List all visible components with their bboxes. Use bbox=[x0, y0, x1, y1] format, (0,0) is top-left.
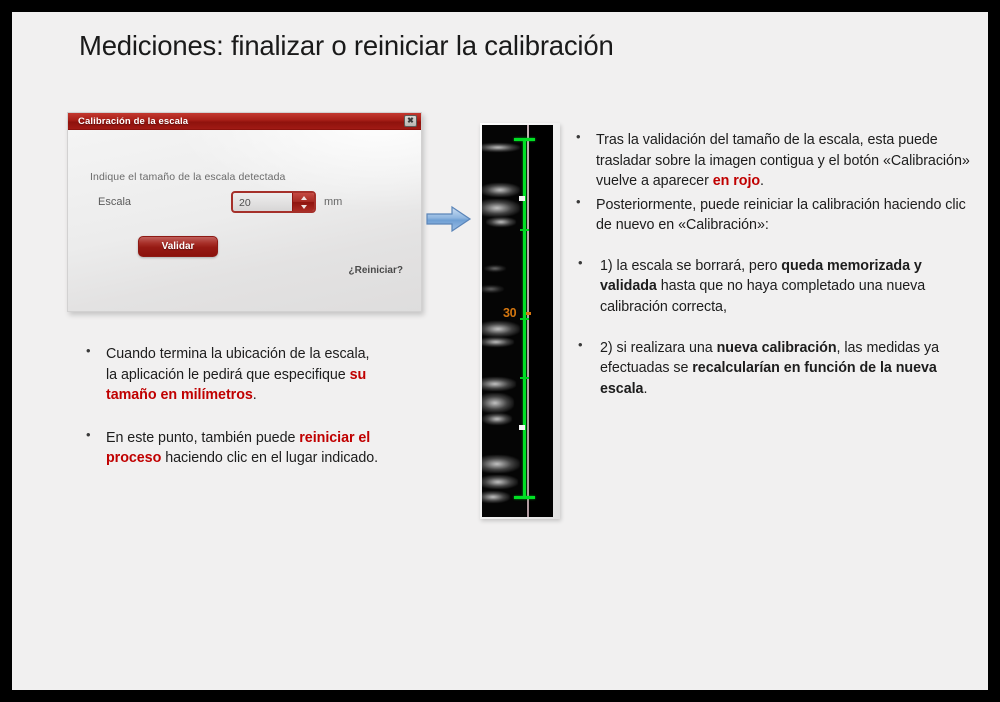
text-run: nueva calibración bbox=[717, 340, 837, 356]
close-icon[interactable]: ✖ bbox=[404, 115, 417, 127]
list-item-text: Tras la validación del tamaño de la esca… bbox=[596, 130, 982, 192]
tissue-speckle bbox=[482, 455, 520, 473]
tissue-speckle bbox=[482, 413, 512, 425]
dialog-background-gloss bbox=[68, 129, 421, 312]
measurement-tick bbox=[520, 318, 529, 320]
measurement-tick bbox=[520, 229, 529, 231]
scale-value-stepper[interactable]: 20 bbox=[231, 191, 316, 213]
list-item-text: En este punto, también puede reiniciar e… bbox=[106, 428, 382, 469]
tissue-speckle bbox=[482, 393, 514, 413]
list-item-text: Cuando termina la ubicación de la escala… bbox=[106, 344, 382, 406]
ultrasound-image[interactable]: 30 bbox=[482, 125, 553, 517]
text-run: en rojo bbox=[713, 173, 760, 189]
text-run: Tras la validación del tamaño de la esca… bbox=[596, 132, 970, 189]
calibration-dialog: Calibración de la escala ✖ Indique el ta… bbox=[67, 112, 422, 312]
right-bullet-list: Tras la validación del tamaño de la esca… bbox=[572, 130, 982, 402]
dialog-titlebar: Calibración de la escala ✖ bbox=[68, 113, 421, 130]
list-item: Tras la validación del tamaño de la esca… bbox=[572, 130, 982, 192]
unit-label: mm bbox=[324, 196, 342, 208]
measurement-handle[interactable] bbox=[519, 425, 525, 430]
measurement-tick bbox=[520, 377, 529, 379]
text-run: 1) la escala se borrará, pero bbox=[600, 258, 781, 274]
validate-button[interactable]: Validar bbox=[138, 236, 218, 257]
text-run: En este punto, también puede bbox=[106, 430, 299, 446]
page-title: Mediciones: finalizar o reiniciar la cal… bbox=[79, 30, 614, 62]
chevron-up-icon[interactable] bbox=[301, 196, 307, 200]
tissue-speckle bbox=[482, 337, 514, 347]
list-item: 1) la escala se borrará, pero queda memo… bbox=[572, 256, 982, 318]
dialog-instruction-text: Indique el tamaño de la escala detectada bbox=[90, 171, 285, 183]
stepper-buttons[interactable] bbox=[292, 193, 314, 211]
chevron-down-icon[interactable] bbox=[301, 205, 307, 209]
tissue-speckle bbox=[486, 217, 516, 227]
text-run: . bbox=[253, 387, 257, 403]
tissue-speckle bbox=[482, 199, 520, 217]
image-dark-region bbox=[526, 125, 553, 517]
left-bullet-list: Cuando termina la ubicación de la escala… bbox=[82, 344, 382, 472]
text-run: Posteriormente, puede reiniciar la calib… bbox=[596, 197, 966, 234]
close-glyph: ✖ bbox=[407, 117, 414, 125]
tissue-speckle bbox=[482, 183, 520, 197]
reset-link[interactable]: ¿Reiniciar? bbox=[349, 265, 403, 276]
validate-button-label: Validar bbox=[162, 241, 195, 252]
tissue-speckle bbox=[482, 321, 520, 337]
slide-canvas: Mediciones: finalizar o reiniciar la cal… bbox=[12, 12, 988, 690]
ultrasound-image-panel: 30 bbox=[480, 123, 560, 519]
tissue-speckle bbox=[482, 377, 516, 391]
tissue-speckle bbox=[482, 285, 504, 293]
list-item-text: Posteriormente, puede reiniciar la calib… bbox=[596, 195, 982, 236]
list-item: 2) si realizara una nueva calibración, l… bbox=[572, 338, 982, 400]
measurement-handle[interactable] bbox=[519, 196, 525, 201]
tissue-speckle bbox=[482, 143, 520, 152]
dialog-title-label: Calibración de la escala bbox=[78, 116, 188, 127]
reference-line bbox=[527, 125, 529, 517]
text-run: . bbox=[760, 173, 764, 189]
list-item-text: 1) la escala se borrará, pero queda memo… bbox=[600, 256, 982, 318]
scale-field-label: Escala bbox=[98, 196, 131, 208]
tissue-speckle bbox=[482, 491, 510, 503]
right-arrow-icon bbox=[425, 204, 473, 234]
scale-value-input[interactable]: 20 bbox=[239, 197, 251, 209]
tissue-speckle bbox=[484, 265, 506, 272]
text-run: . bbox=[643, 381, 647, 397]
measurement-value-tick bbox=[526, 312, 531, 315]
list-item: Posteriormente, puede reiniciar la calib… bbox=[572, 195, 982, 236]
list-item: En este punto, también puede reiniciar e… bbox=[82, 428, 382, 469]
tissue-speckle bbox=[482, 475, 518, 489]
measurement-value-label: 30 bbox=[503, 306, 516, 320]
list-item: Cuando termina la ubicación de la escala… bbox=[82, 344, 382, 406]
text-run: Cuando termina la ubicación de la escala… bbox=[106, 346, 369, 383]
measurement-endpoint-bottom[interactable] bbox=[514, 496, 535, 499]
text-run: 2) si realizara una bbox=[600, 340, 717, 356]
measurement-endpoint-top[interactable] bbox=[514, 138, 535, 141]
list-item-text: 2) si realizara una nueva calibración, l… bbox=[600, 338, 982, 400]
text-run: haciendo clic en el lugar indicado. bbox=[161, 450, 378, 466]
